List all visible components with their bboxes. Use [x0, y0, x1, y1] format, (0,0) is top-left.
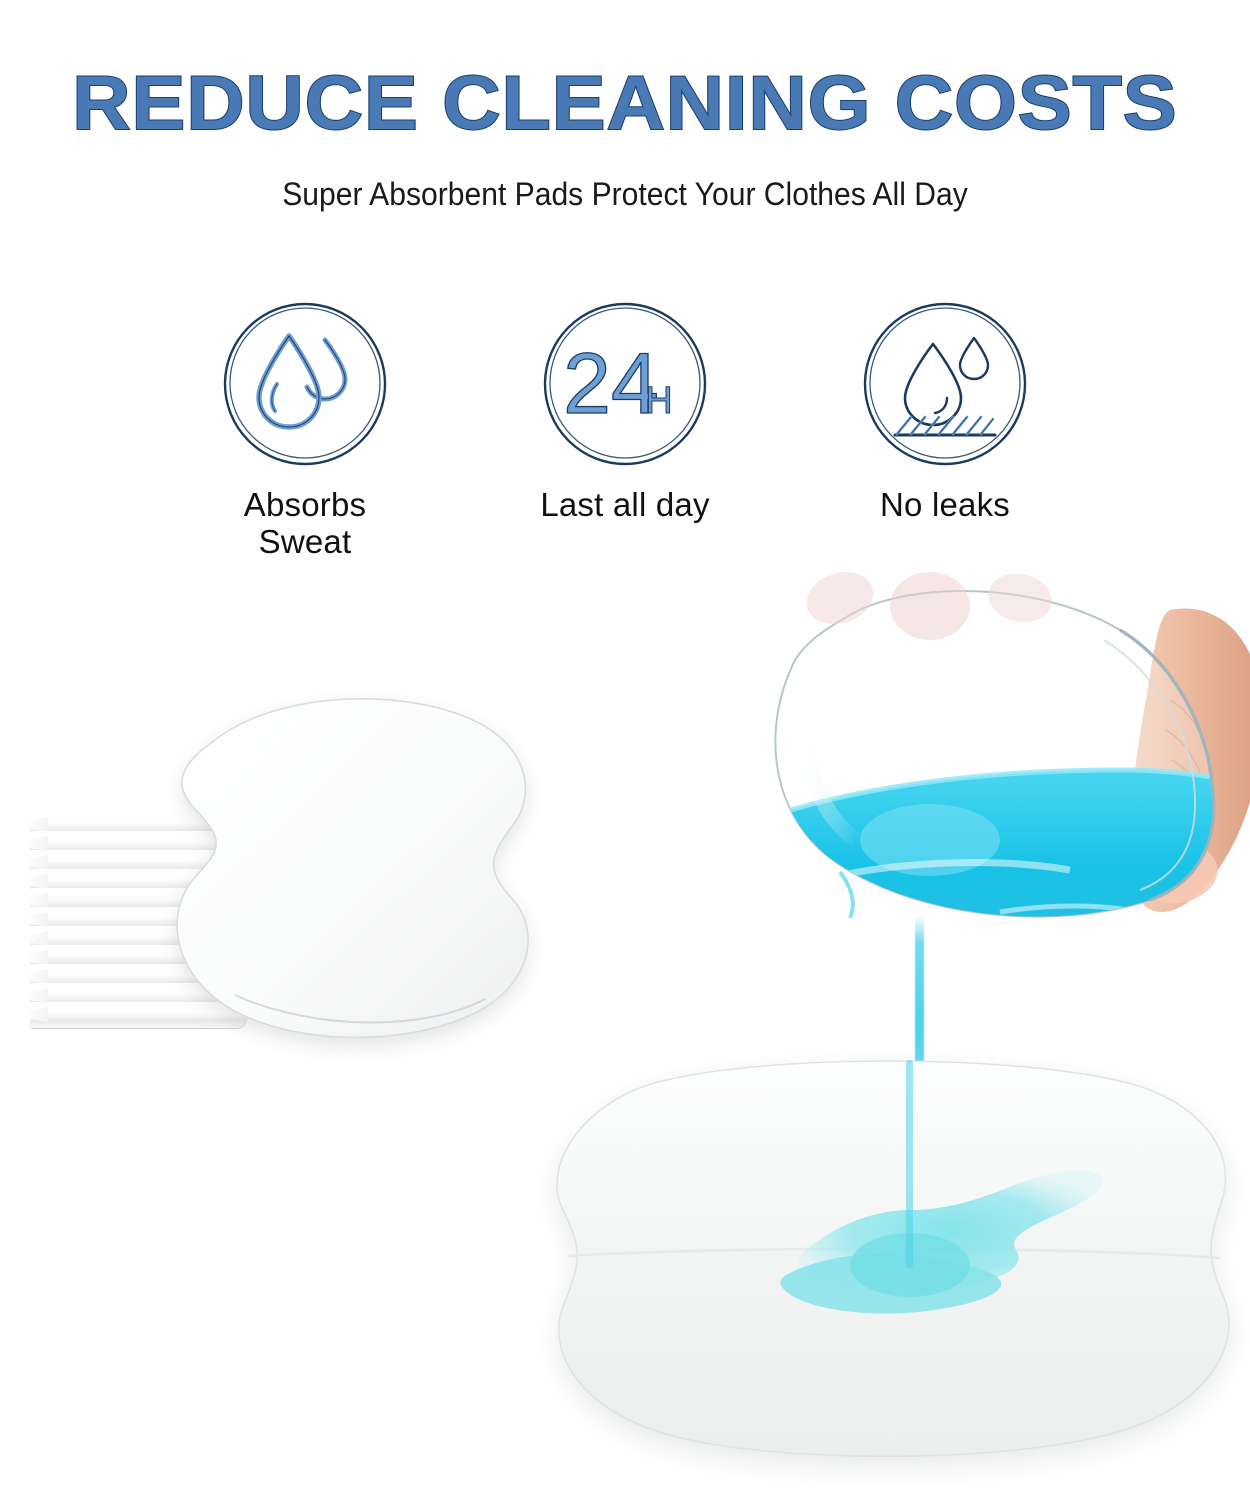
feature-label: Last all day: [540, 486, 709, 523]
page-headline: REDUCE CLEANING COSTS: [0, 66, 1250, 142]
feature-label: No leaks: [880, 486, 1010, 523]
two-water-droplets-icon: [221, 300, 389, 468]
product-photo-area: [0, 520, 1250, 1500]
sweat-pad-absorbing-liquid: [538, 1060, 1250, 1460]
svg-text:H: H: [645, 380, 672, 422]
feature-no-leaks: No leaks: [810, 300, 1080, 523]
feature-label-line1: Absorbs: [244, 486, 366, 523]
24h-clock-text-icon: 24 H: [541, 300, 709, 468]
page-subheadline: Super Absorbent Pads Protect Your Clothe…: [38, 176, 1213, 213]
upright-sweat-pad: [135, 695, 605, 1055]
droplet-on-repellent-surface-icon: [861, 300, 1029, 468]
product-feature-graphic: REDUCE CLEANING COSTS Super Absorbent Pa…: [0, 0, 1250, 1500]
feature-last-all-day: 24 H Last all day: [490, 300, 760, 523]
glass-beaker-with-blue-liquid: [700, 520, 1250, 990]
